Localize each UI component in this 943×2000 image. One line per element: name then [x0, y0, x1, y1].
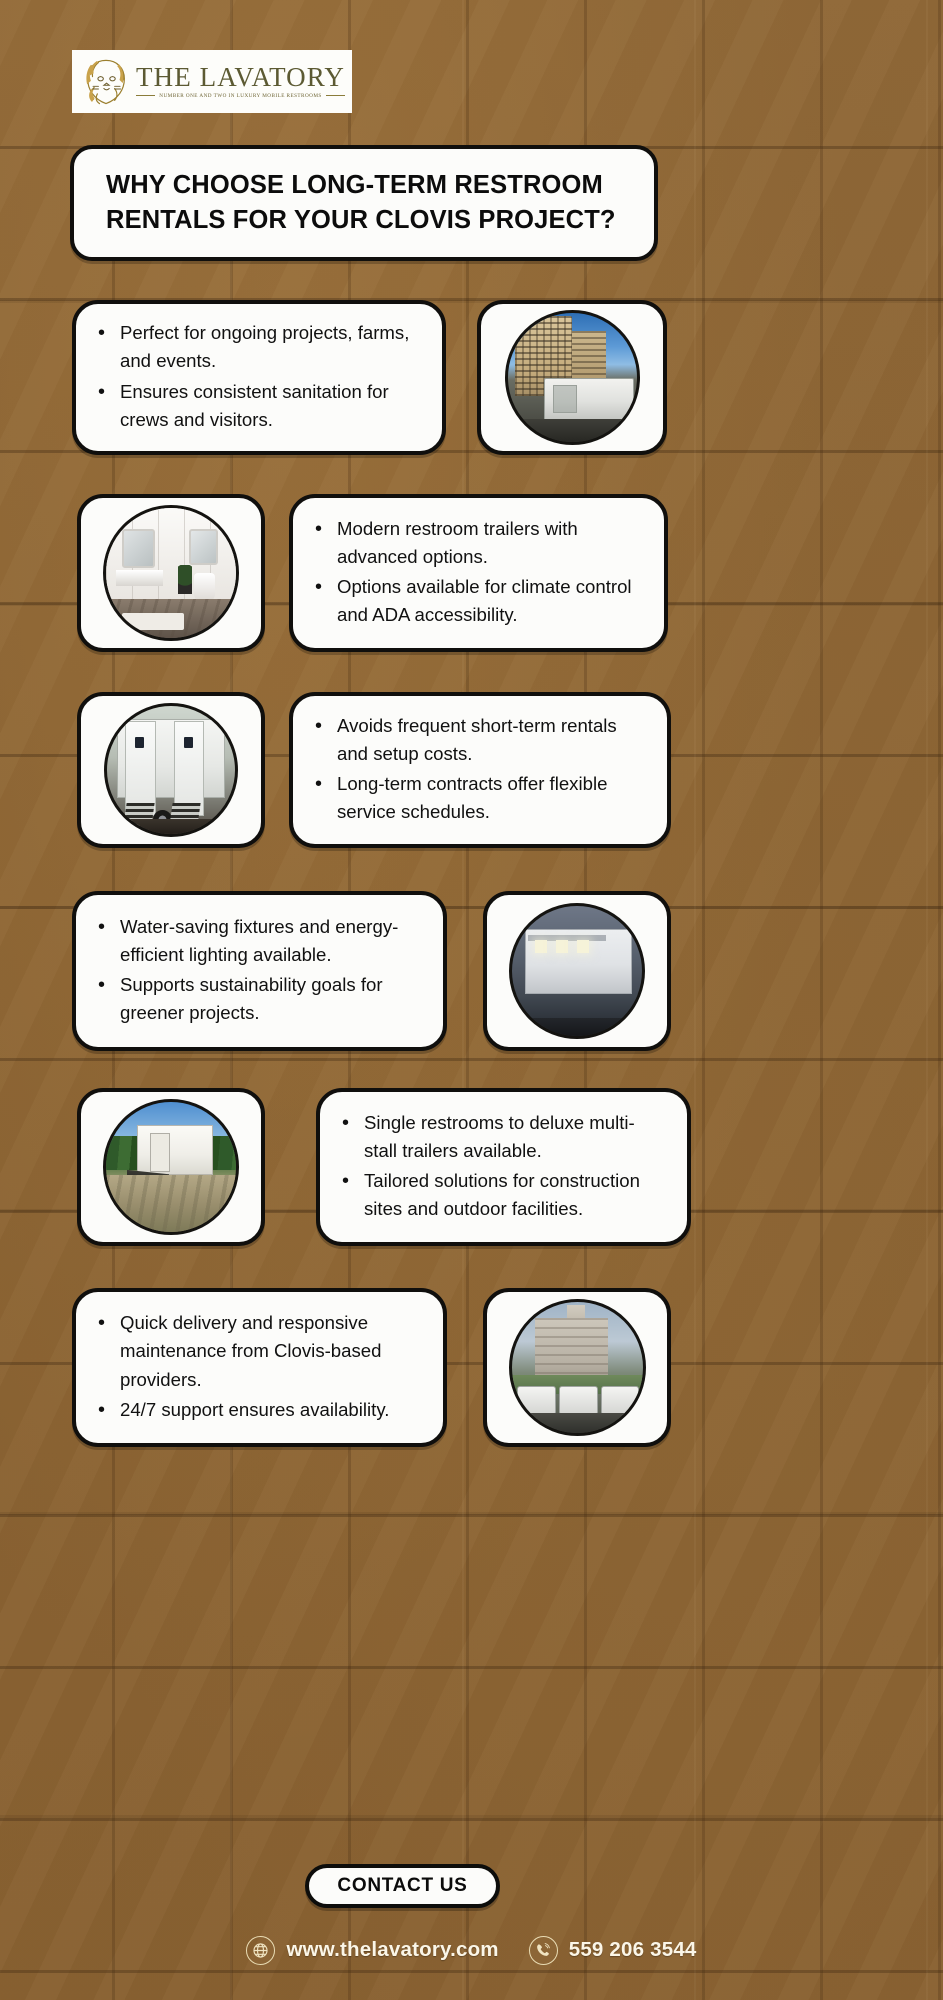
- list-item: Ensures consistent sanitation for crews …: [90, 378, 422, 435]
- logo-rule-right: [326, 95, 345, 96]
- list-item: Long-term contracts offer flexible servi…: [307, 770, 647, 827]
- list-item: Single restrooms to deluxe multi-stall t…: [334, 1109, 667, 1166]
- section-card-variety: Single restrooms to deluxe multi-stall t…: [316, 1088, 691, 1246]
- phone-icon: [529, 1936, 558, 1965]
- page-title-card: WHY CHOOSE LONG-TERM RESTROOM RENTALS FO…: [70, 145, 658, 261]
- section-card-local-support: Quick delivery and responsive maintenanc…: [72, 1288, 447, 1447]
- bullet-list: Quick delivery and responsive maintenanc…: [90, 1309, 423, 1426]
- photo-card-eco-friendly: [483, 891, 671, 1051]
- bullet-list: Modern restroom trailers with advanced o…: [307, 515, 644, 632]
- contact-us-label: CONTACT US: [337, 1875, 467, 1897]
- section-card-ongoing-projects: Perfect for ongoing projects, farms, and…: [72, 300, 446, 455]
- footer: www.thelavatory.com 559 206 3544: [0, 1925, 943, 1975]
- list-item: Perfect for ongoing projects, farms, and…: [90, 319, 422, 376]
- bullet-list: Water-saving fixtures and energy-efficie…: [90, 913, 423, 1030]
- trailer-on-gravel-lot-photo: [103, 1099, 239, 1235]
- photo-card-ongoing-projects: [477, 300, 667, 455]
- footer-phone[interactable]: 559 206 3544: [529, 1936, 697, 1965]
- list-item: 24/7 support ensures availability.: [90, 1396, 423, 1424]
- logo-text: THE LAVATORY NUMBER ONE AND TWO IN LUXUR…: [134, 64, 345, 99]
- page-title: WHY CHOOSE LONG-TERM RESTROOM RENTALS FO…: [106, 168, 622, 238]
- bullet-list: Perfect for ongoing projects, farms, and…: [90, 319, 422, 436]
- list-item: Quick delivery and responsive maintenanc…: [90, 1309, 423, 1394]
- list-item: Supports sustainability goals for greene…: [90, 971, 423, 1028]
- list-item: Options available for climate control an…: [307, 573, 644, 630]
- lion-head-icon: [78, 55, 134, 109]
- infographic-page: THE LAVATORY NUMBER ONE AND TWO IN LUXUR…: [0, 0, 943, 2000]
- bullet-list: Avoids frequent short-term rentals and s…: [307, 712, 647, 829]
- photo-card-cost-savings: [77, 692, 265, 848]
- footer-phone-text: 559 206 3544: [569, 1938, 697, 1962]
- section-card-modern-trailers: Modern restroom trailers with advanced o…: [289, 494, 668, 652]
- bullet-list: Single restrooms to deluxe multi-stall t…: [334, 1109, 667, 1226]
- photo-card-local-support: [483, 1288, 671, 1447]
- logo-rule-left: [136, 95, 155, 96]
- logo-wordmark: THE LAVATORY: [136, 64, 345, 92]
- list-item: Tailored solutions for construction site…: [334, 1167, 667, 1224]
- white-trailer-with-steps-photo: [104, 703, 238, 837]
- section-card-cost-savings: Avoids frequent short-term rentals and s…: [289, 692, 671, 848]
- contact-us-button[interactable]: CONTACT US: [305, 1864, 500, 1908]
- hotel-and-restroom-trailer-photo: [505, 310, 640, 445]
- globe-icon: [246, 1936, 275, 1965]
- logo-tagline-row: NUMBER ONE AND TWO IN LUXURY MOBILE REST…: [136, 93, 345, 99]
- section-card-eco-friendly: Water-saving fixtures and energy-efficie…: [72, 891, 447, 1051]
- logo-tagline: NUMBER ONE AND TWO IN LUXURY MOBILE REST…: [159, 93, 321, 99]
- footer-website[interactable]: www.thelavatory.com: [246, 1936, 498, 1965]
- photo-card-modern-trailers: [77, 494, 265, 652]
- list-item: Modern restroom trailers with advanced o…: [307, 515, 644, 572]
- list-item: Avoids frequent short-term rentals and s…: [307, 712, 647, 769]
- photo-card-variety: [77, 1088, 265, 1246]
- stone-building-with-trucks-photo: [509, 1299, 646, 1436]
- luxury-restroom-interior-photo: [103, 505, 239, 641]
- trailer-side-view-photo: [509, 903, 645, 1039]
- footer-website-text: www.thelavatory.com: [286, 1938, 498, 1962]
- brand-logo: THE LAVATORY NUMBER ONE AND TWO IN LUXUR…: [72, 50, 352, 113]
- list-item: Water-saving fixtures and energy-efficie…: [90, 913, 423, 970]
